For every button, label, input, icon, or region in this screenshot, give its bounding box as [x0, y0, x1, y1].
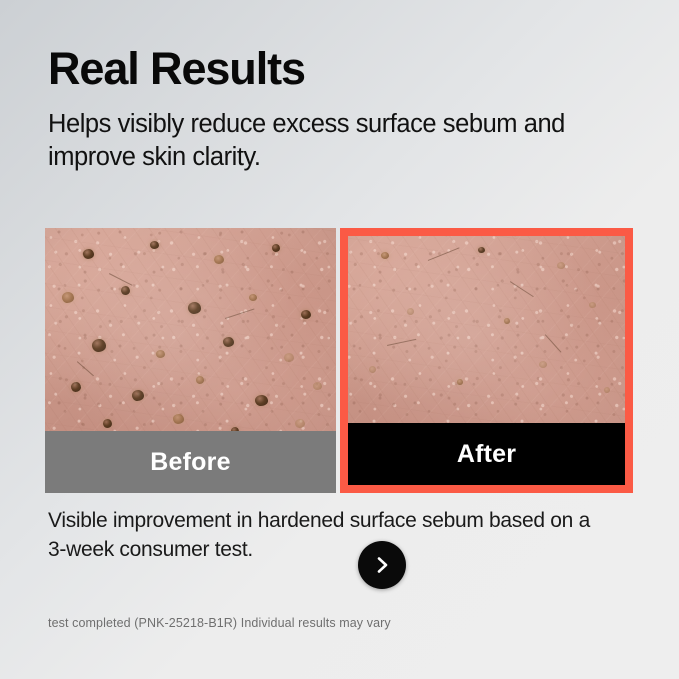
- before-label-bar: Before: [45, 431, 336, 493]
- page-title: Real Results: [48, 42, 305, 96]
- fine-print-disclaimer: test completed (PNK-25218-B1R) Individua…: [48, 615, 391, 632]
- results-caption: Visible improvement in hardened surface …: [48, 506, 608, 564]
- after-label: After: [457, 440, 516, 469]
- before-after-comparison: Before: [45, 228, 633, 493]
- before-panel: Before: [45, 228, 336, 493]
- after-panel: After: [340, 228, 633, 493]
- page-subtitle: Helps visibly reduce excess surface sebu…: [48, 108, 608, 174]
- after-label-bar: After: [348, 423, 625, 485]
- chevron-right-badge: [358, 541, 406, 589]
- before-label: Before: [150, 448, 230, 477]
- real-results-card: Real Results Helps visibly reduce excess…: [0, 0, 679, 679]
- chevron-right-icon: [371, 554, 393, 576]
